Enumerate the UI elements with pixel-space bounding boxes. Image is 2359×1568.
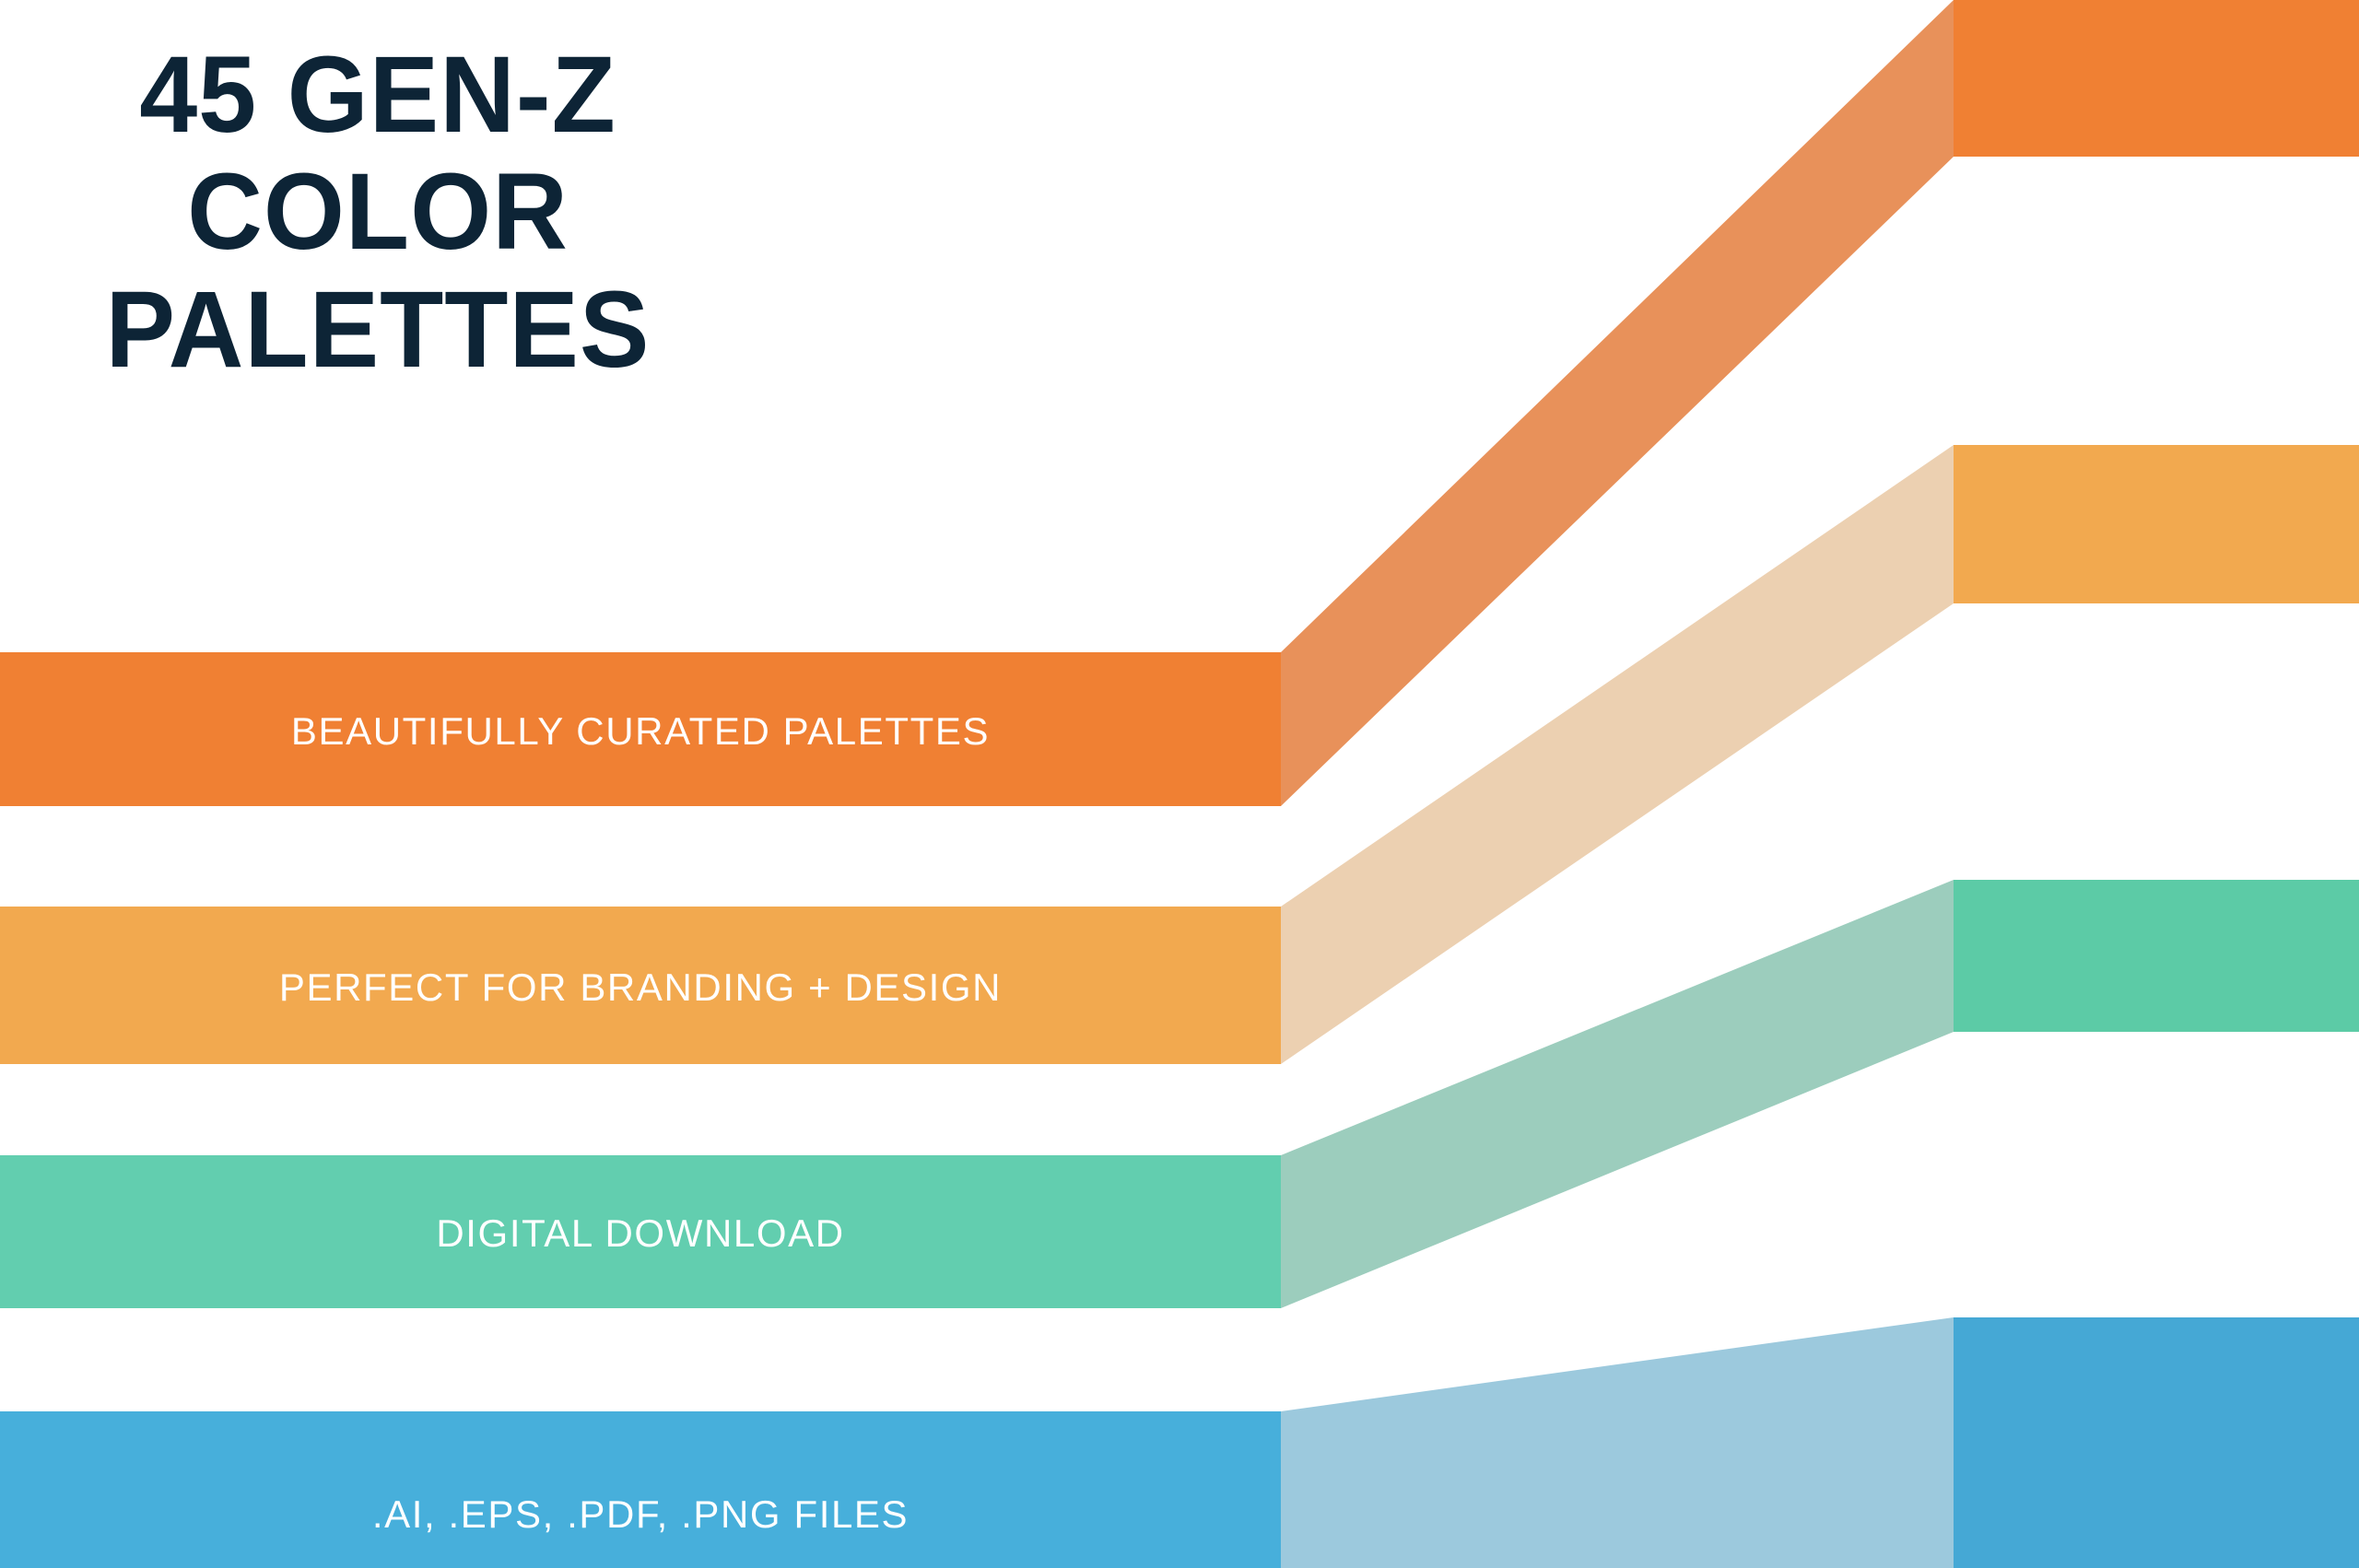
- title-line-1: 45 GEN-Z: [15, 37, 740, 154]
- ribbon-files-flat-right: [1954, 1317, 2359, 1568]
- title-line-3: PALETTES: [15, 272, 740, 389]
- ribbon-curated-flat-left: [0, 652, 1281, 806]
- page-title: 45 GEN-Z COLOR PALETTES: [0, 37, 756, 389]
- ribbon-download-flat-right: [1954, 880, 2359, 1032]
- title-line-2: COLOR: [15, 154, 740, 271]
- ribbon-branding-flat-right: [1954, 445, 2359, 603]
- ribbon-files-diagonal: [1281, 1317, 1954, 1568]
- ribbon-files-flat-left: [0, 1411, 1281, 1568]
- poster-canvas: 45 GEN-Z COLOR PALETTES BEAUTIFULLY CURA…: [0, 0, 2359, 1568]
- ribbon-download-flat-left: [0, 1155, 1281, 1308]
- ribbon-branding-flat-left: [0, 907, 1281, 1064]
- ribbon-bar-files: [0, 1317, 2359, 1568]
- ribbon-curated-flat-right: [1954, 0, 2359, 157]
